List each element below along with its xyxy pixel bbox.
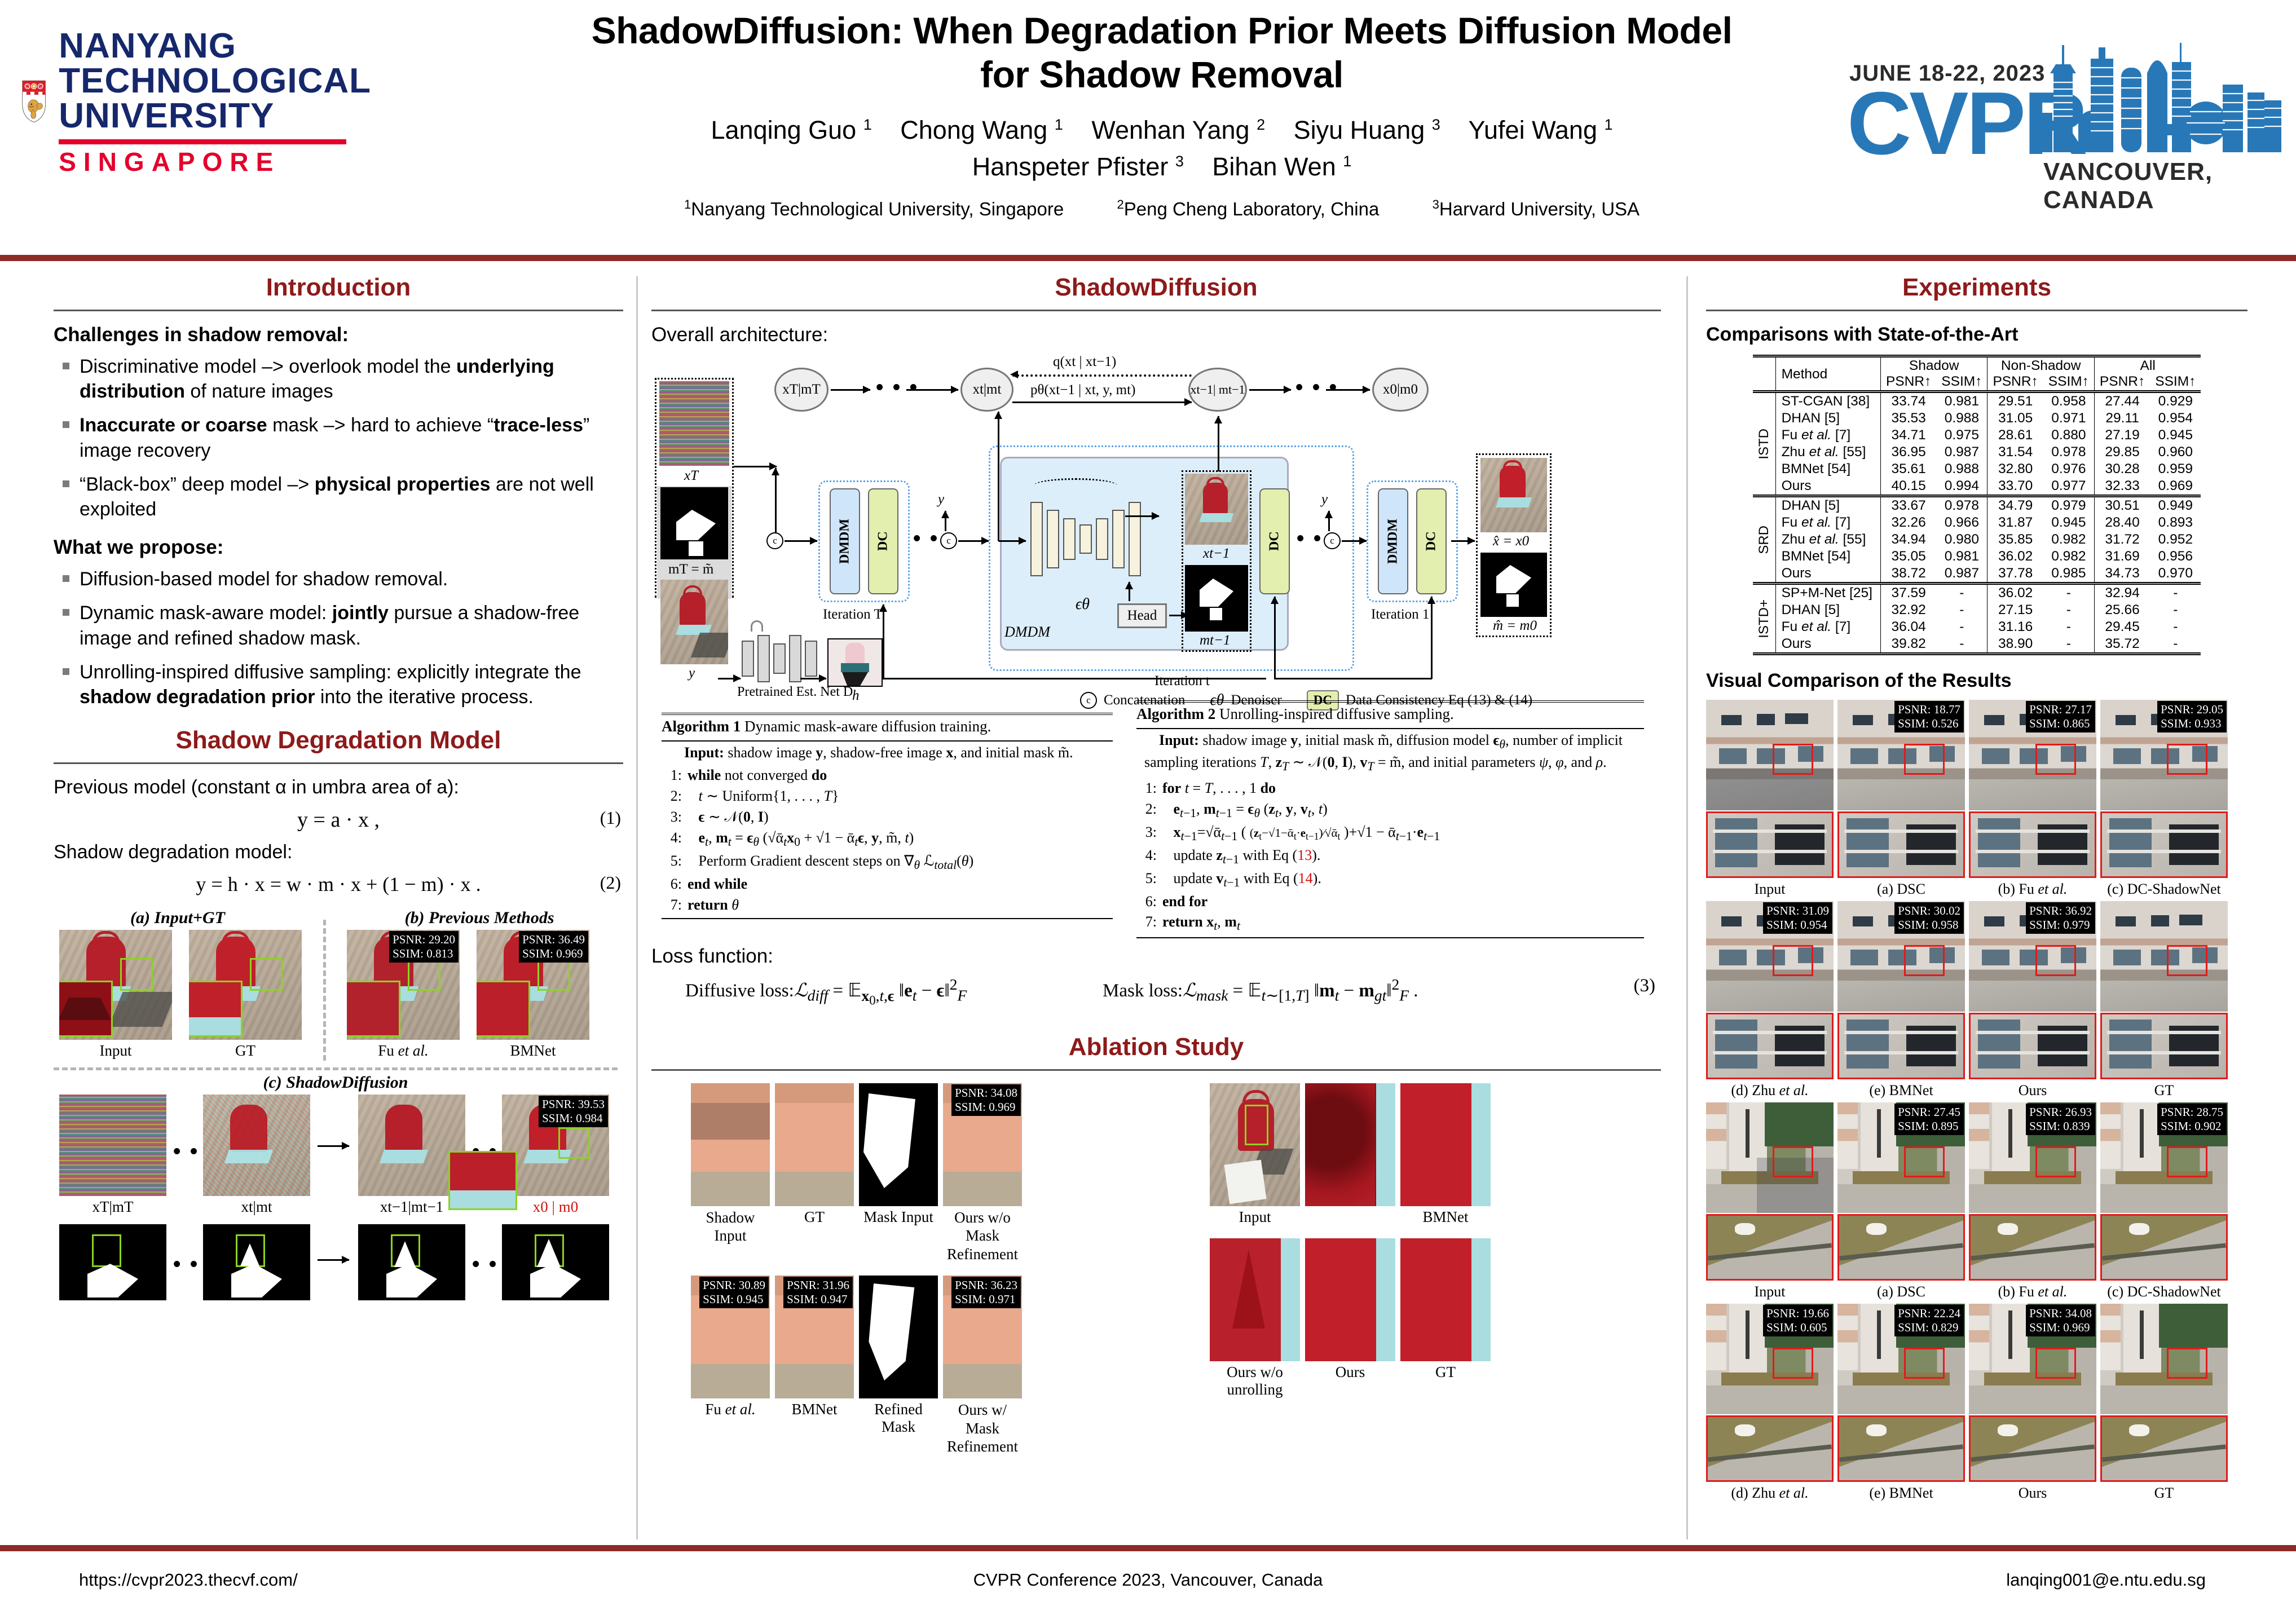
node-xT: xT|mT bbox=[774, 368, 829, 412]
sdm-text: Shadow degradation model: bbox=[54, 841, 623, 863]
cell-method: DHAN [5] bbox=[1775, 410, 1880, 427]
cell-value: - bbox=[1936, 584, 1987, 602]
psnr-value: PSNR: 30.02 bbox=[1898, 904, 1960, 918]
cell-value: 25.66 bbox=[2094, 602, 2150, 619]
header-divider bbox=[0, 255, 2296, 261]
cvpr-logo: JUNE 18-22, 2023 CVPR bbox=[1845, 17, 2285, 192]
author-item: Siyu Huang 3 bbox=[1294, 116, 1440, 144]
algo-line: 3: xt−1=√ᾱt−1 ( (zt−√1−ᾱt·et−1)⁄√ᾱt )+√1… bbox=[1136, 822, 1644, 845]
label-y-input: y bbox=[938, 492, 944, 507]
cell-value: - bbox=[1936, 619, 1987, 636]
architecture-diagram: xT|mT • • • xt|mt xt−1| mt−1 • • • x0|m0… bbox=[651, 346, 1661, 685]
metric-badge: PSNR: 29.05SSIM: 0.933 bbox=[2157, 701, 2227, 732]
cell-value: 30.51 bbox=[2094, 496, 2150, 515]
visual-label: GT bbox=[2100, 1485, 2228, 1502]
ssim-value: SSIM: 0.605 bbox=[1766, 1321, 1829, 1335]
block-dc: DC bbox=[868, 488, 898, 594]
psnr-value: PSNR: 36.92 bbox=[2029, 904, 2092, 918]
cell-method: Fu et al. [7] bbox=[1775, 514, 1880, 531]
algo-line: 6:end for bbox=[1136, 892, 1644, 912]
cell-value: - bbox=[2150, 619, 2201, 636]
algorithm-2: Algorithm 2 Unrolling-inspired diffusive… bbox=[1136, 700, 1644, 938]
cell-value: 34.94 bbox=[1880, 531, 1936, 548]
cell-value: 0.976 bbox=[2043, 461, 2095, 478]
cell-value: - bbox=[2150, 636, 2201, 654]
node-xtm1: xt−1| mt−1 bbox=[1188, 368, 1247, 412]
fig-image-input bbox=[59, 930, 172, 1040]
ablation-image: PSNR: 30.89 SSIM: 0.945 bbox=[691, 1276, 770, 1398]
footer-email[interactable]: lanqing001@e.ntu.edu.sg bbox=[2006, 1570, 2206, 1590]
ablation-label: Ours bbox=[1305, 1363, 1395, 1381]
psnr-value: PSNR: 39.53 bbox=[542, 1097, 605, 1111]
psnr-value: PSNR: 27.45 bbox=[1898, 1105, 1960, 1119]
cell-value: 0.880 bbox=[2043, 427, 2095, 444]
metric-badge: PSNR: 34.08SSIM: 0.969 bbox=[2026, 1305, 2095, 1336]
ablation-image bbox=[859, 1083, 938, 1206]
ntu-crest-icon bbox=[21, 25, 46, 178]
previous-model-text: Previous model (constant α in umbra area… bbox=[54, 776, 623, 798]
cell-value: - bbox=[2043, 584, 2095, 602]
ssim-value: SSIM: 0.895 bbox=[1898, 1119, 1960, 1133]
cell-value: 0.956 bbox=[2150, 548, 2201, 565]
image-xT bbox=[659, 381, 729, 466]
section-title-ablation: Ablation Study bbox=[651, 1033, 1661, 1061]
ellipsis: • • • bbox=[876, 381, 919, 394]
visual-cell: PSNR: 27.17SSIM: 0.865(b) Fu et al. bbox=[1969, 700, 2096, 898]
metric-badge: PSNR: 18.77SSIM: 0.526 bbox=[1894, 701, 1964, 732]
section-title-introduction: Introduction bbox=[54, 273, 623, 302]
visual-cell: PSNR: 22.24SSIM: 0.829(e) BMNet bbox=[1837, 1304, 1965, 1502]
visual-label: (e) BMNet bbox=[1837, 1485, 1965, 1502]
cell-value: - bbox=[2043, 619, 2095, 636]
ablation-label: BMNet bbox=[775, 1401, 854, 1418]
cell-value: 28.40 bbox=[2094, 514, 2150, 531]
algo-line: 7:return xt, mt bbox=[1136, 912, 1644, 935]
image-mt1 bbox=[1185, 565, 1248, 632]
propose-list: Diffusion-based model for shadow removal… bbox=[59, 567, 623, 709]
algorithms-row: Algorithm 1 Dynamic mask-aware diffusion… bbox=[651, 700, 1661, 943]
visual-label: Ours bbox=[1969, 1082, 2096, 1099]
psnr-value: PSNR: 26.93 bbox=[2029, 1105, 2092, 1119]
visual-image bbox=[2100, 901, 2228, 1012]
cell-value: 0.960 bbox=[2150, 444, 2201, 461]
visual-cell: PSNR: 26.93SSIM: 0.839(b) Fu et al. bbox=[1969, 1102, 2096, 1300]
cell-value: - bbox=[1936, 602, 1987, 619]
label-pretrained-net: Pretrained Est. Net D bbox=[737, 685, 853, 700]
metric-badge: PSNR: 36.23 SSIM: 0.971 bbox=[951, 1277, 1021, 1308]
table-row: ISTDST-CGAN [38]33.740.98129.510.95827.4… bbox=[1753, 392, 2201, 411]
visual-zoom-image bbox=[1837, 811, 1965, 878]
visual-zoom-image bbox=[1837, 1013, 1965, 1079]
label-denoiser: ϵθ bbox=[1076, 595, 1090, 614]
visual-label: (b) Fu et al. bbox=[1969, 1283, 2096, 1300]
ssim-value: SSIM: 0.954 bbox=[1766, 918, 1829, 932]
fig-caption-b: (b) Previous Methods bbox=[347, 908, 612, 928]
ablation-label: Ours w/o Mask Refinement bbox=[943, 1208, 1022, 1263]
cell-value: 36.95 bbox=[1880, 444, 1936, 461]
label-p: pθ(xt−1 | xt, y, mt) bbox=[1030, 382, 1135, 398]
visual-zoom-image bbox=[1969, 1415, 2096, 1482]
label-q: q(xt | xt−1) bbox=[1053, 354, 1116, 370]
algo-line: 5: Perform Gradient descent steps on ∇θ … bbox=[662, 851, 1113, 874]
visual-zoom-image bbox=[1706, 1013, 1834, 1079]
visual-zoom-image bbox=[1969, 1214, 2096, 1281]
challenges-list: Discriminative model –> overlook model t… bbox=[59, 354, 623, 522]
cell-value: 31.69 bbox=[2094, 548, 2150, 565]
ablation-image bbox=[1400, 1238, 1491, 1361]
label-mhat: m̂ = m0 bbox=[1493, 618, 1537, 634]
cell-method: DHAN [5] bbox=[1775, 602, 1880, 619]
visual-comparison-grid: InputPSNR: 18.77SSIM: 0.526(a) DSCPSNR: … bbox=[1706, 700, 2247, 1502]
ablation-label bbox=[1305, 1208, 1395, 1226]
psnr-value: PSNR: 18.77 bbox=[1898, 703, 1960, 717]
cell-value: 0.966 bbox=[1936, 514, 1987, 531]
ssim-value: SSIM: 0.969 bbox=[522, 947, 585, 961]
author-item: Bihan Wen 1 bbox=[1212, 152, 1351, 181]
cell-value: 0.994 bbox=[1936, 478, 1987, 496]
visual-cell: GT bbox=[2100, 901, 2228, 1099]
psnr-value: PSNR: 31.96 bbox=[787, 1278, 849, 1292]
ssim-value: SSIM: 0.984 bbox=[542, 1111, 605, 1126]
ntu-wordmark: NANYANG TECHNOLOGICAL UNIVERSITY SINGAPO… bbox=[59, 29, 371, 175]
th-col: SSIM↑ bbox=[2150, 374, 2201, 392]
visual-cell: Input bbox=[1706, 1102, 1834, 1300]
author-item: Lanqing Guo 1 bbox=[711, 116, 871, 144]
cell-value: - bbox=[2043, 636, 2095, 654]
visual-title: Visual Comparison of the Results bbox=[1706, 670, 2247, 692]
cell-value: - bbox=[2150, 602, 2201, 619]
cell-value: 29.85 bbox=[2094, 444, 2150, 461]
th-col: PSNR↑ bbox=[1880, 374, 1936, 392]
list-item: “Black-box” deep model –> physical prope… bbox=[59, 472, 623, 522]
visual-image: PSNR: 27.17SSIM: 0.865 bbox=[1969, 700, 2096, 810]
visual-zoom-image bbox=[1969, 811, 2096, 878]
equation-1-number: (1) bbox=[600, 807, 621, 828]
algo-line: 5: update vt−1 with Eq (14). bbox=[1136, 868, 1644, 892]
affiliation-item: 1Nanyang Technological University, Singa… bbox=[684, 198, 1064, 219]
cell-value: 0.952 bbox=[2150, 531, 2201, 548]
table-row: Ours38.720.98737.780.98534.730.970 bbox=[1753, 565, 2201, 584]
ntu-line4: SINGAPORE bbox=[59, 149, 371, 175]
algorithm-1-input: Input: shadow image y, shadow-free image… bbox=[662, 742, 1113, 763]
table-header-group-row: MethodShadowNon-ShadowAll bbox=[1753, 356, 2201, 374]
ssim-value: SSIM: 0.829 bbox=[1898, 1321, 1960, 1335]
visual-cell: PSNR: 19.66SSIM: 0.605(d) Zhu et al. bbox=[1706, 1304, 1834, 1502]
table-row: BMNet [54]35.050.98136.020.98231.690.956 bbox=[1753, 548, 2201, 565]
ablation-image bbox=[775, 1083, 854, 1206]
cell-value: 0.949 bbox=[2150, 496, 2201, 515]
visual-label: (c) DC-ShadowNet bbox=[2100, 1283, 2228, 1300]
visual-cell: PSNR: 28.75SSIM: 0.902(c) DC-ShadowNet bbox=[2100, 1102, 2228, 1300]
ablation-label: BMNet bbox=[1400, 1208, 1491, 1226]
ablation-label: Input bbox=[1210, 1208, 1300, 1226]
visual-image: PSNR: 22.24SSIM: 0.829 bbox=[1837, 1304, 1965, 1414]
visual-image bbox=[1706, 700, 1834, 810]
ablation-image bbox=[859, 1276, 938, 1398]
cell-value: 33.70 bbox=[1987, 478, 2043, 496]
cell-value: 0.982 bbox=[2043, 531, 2095, 548]
author-item: Hanspeter Pfister 3 bbox=[972, 152, 1184, 181]
cell-method: BMNet [54] bbox=[1775, 461, 1880, 478]
metric-badge: PSNR: 29.20 SSIM: 0.813 bbox=[389, 931, 459, 963]
table-row: Ours40.150.99433.700.97732.330.969 bbox=[1753, 478, 2201, 496]
visual-image bbox=[1706, 1102, 1834, 1213]
cell-value: 0.987 bbox=[1936, 444, 1987, 461]
ssim-value: SSIM: 0.902 bbox=[2161, 1119, 2223, 1133]
visual-zoom-image bbox=[2100, 1214, 2228, 1281]
image-h bbox=[827, 638, 883, 687]
cell-method: Fu et al. [7] bbox=[1775, 619, 1880, 636]
cell-value: 35.05 bbox=[1880, 548, 1936, 565]
concat-icon: c bbox=[766, 532, 783, 549]
psnr-value: PSNR: 29.05 bbox=[2161, 703, 2223, 717]
vancouver-skyline-icon bbox=[2037, 34, 2285, 164]
cell-value: 29.45 bbox=[2094, 619, 2150, 636]
cell-value: 38.72 bbox=[1880, 565, 1936, 584]
ntu-line2: TECHNOLOGICAL bbox=[59, 64, 371, 99]
ssim-value: SSIM: 0.947 bbox=[787, 1292, 849, 1307]
equation-2-body: y = h · x = w · m · x + (1 − m) · x . bbox=[196, 873, 481, 895]
visual-cell: PSNR: 30.02SSIM: 0.958(e) BMNet bbox=[1837, 901, 1965, 1099]
th-col: PSNR↑ bbox=[2094, 374, 2150, 392]
block-dc-2: DC bbox=[1259, 488, 1290, 594]
qualitative-figure: (a) Input+GT (b) Previous Methods Input bbox=[54, 908, 623, 1303]
visual-cell: PSNR: 29.05SSIM: 0.933(c) DC-ShadowNet bbox=[2100, 700, 2228, 898]
cell-value: 0.954 bbox=[2150, 410, 2201, 427]
author-item: Chong Wang 1 bbox=[900, 116, 1063, 144]
cell-value: 34.73 bbox=[2094, 565, 2150, 584]
dataset-group-label: ISTD bbox=[1754, 429, 1774, 460]
psnr-value: PSNR: 30.89 bbox=[703, 1278, 765, 1292]
ablation-image bbox=[1210, 1083, 1300, 1206]
cell-value: 36.04 bbox=[1880, 619, 1936, 636]
affiliation-list: 1Nanyang Technological University, Singa… bbox=[485, 197, 1839, 220]
algo-line: 1:while not converged do bbox=[662, 765, 1113, 786]
algo-line: 3: ϵ ∼ 𝒩(0, I) bbox=[662, 807, 1113, 828]
ablation-right-row-1: Input B bbox=[1210, 1083, 1491, 1226]
cell-value: 0.975 bbox=[1936, 427, 1987, 444]
cell-value: 36.02 bbox=[1987, 548, 2043, 565]
cell-value: 35.61 bbox=[1880, 461, 1936, 478]
cell-value: 31.05 bbox=[1987, 410, 2043, 427]
section-rule bbox=[54, 310, 623, 311]
visual-image: PSNR: 30.02SSIM: 0.958 bbox=[1837, 901, 1965, 1012]
cell-value: 0.979 bbox=[2043, 496, 2095, 515]
cell-value: 35.72 bbox=[2094, 636, 2150, 654]
cell-value: 0.988 bbox=[1936, 461, 1987, 478]
label-y-input-2: y bbox=[1321, 492, 1328, 507]
section-title-shadowdiffusion: ShadowDiffusion bbox=[651, 273, 1661, 302]
cell-value: 33.67 bbox=[1880, 496, 1936, 515]
ablation-label: GT bbox=[775, 1208, 854, 1226]
ablation-image: PSNR: 36.23 SSIM: 0.971 bbox=[943, 1276, 1022, 1398]
table-row: SRDDHAN [5]33.670.97834.790.97930.510.94… bbox=[1753, 496, 2201, 515]
block-dc-3: DC bbox=[1416, 488, 1447, 594]
loss-mask: Mask loss:ℒmask = 𝔼t∼[1,T] ‖mt − mgt‖2F … bbox=[1103, 976, 1418, 1005]
ssim-value: SSIM: 0.969 bbox=[955, 1100, 1017, 1114]
algo-line: 4: update zt−1 with Eq (13). bbox=[1136, 845, 1644, 868]
table-row: ISTD+SP+M-Net [25]37.59-36.02-32.94- bbox=[1753, 584, 2201, 602]
th-col: PSNR↑ bbox=[1987, 374, 2043, 392]
cell-value: 39.82 bbox=[1880, 636, 1936, 654]
table-row: Ours39.82-38.90-35.72- bbox=[1753, 636, 2201, 654]
algo-line: 2: et−1, mt−1 = ϵθ (zt, y, vt, t) bbox=[1136, 799, 1644, 822]
challenges-lead: Challenges in shadow removal: bbox=[54, 324, 623, 346]
ablation-image bbox=[1400, 1083, 1491, 1206]
cell-value: 31.72 bbox=[2094, 531, 2150, 548]
fig-mask-t bbox=[203, 1224, 310, 1300]
label-mt1: mt−1 bbox=[1200, 633, 1230, 648]
visual-zoom-image bbox=[2100, 811, 2228, 878]
title-block: ShadowDiffusion: When Degradation Prior … bbox=[485, 9, 1839, 220]
cell-value: 28.61 bbox=[1987, 427, 2043, 444]
cell-value: 0.988 bbox=[1936, 410, 1987, 427]
column-right: Experiments Comparisons with State-of-th… bbox=[1706, 273, 2247, 1505]
ssim-value: SSIM: 0.971 bbox=[955, 1292, 1017, 1307]
ssim-value: SSIM: 0.933 bbox=[2161, 717, 2223, 731]
cell-value: 0.982 bbox=[2043, 548, 2095, 565]
cell-value: 0.977 bbox=[2043, 478, 2095, 496]
label-xT: xT bbox=[684, 468, 698, 484]
th-col: SSIM↑ bbox=[2043, 374, 2095, 392]
cell-value: 27.19 bbox=[2094, 427, 2150, 444]
node-xt: xt|mt bbox=[960, 368, 1013, 412]
ablation-label: Ours w/ Mask Refinement bbox=[943, 1401, 1022, 1455]
visual-row: InputPSNR: 18.77SSIM: 0.526(a) DSCPSNR: … bbox=[1706, 700, 2247, 898]
th-group: Non-Shadow bbox=[1987, 356, 2094, 374]
node-x0: x0|m0 bbox=[1372, 368, 1429, 412]
cell-value: 31.54 bbox=[1987, 444, 2043, 461]
author-row-1: Lanqing Guo 1 Chong Wang 1 Wenhan Yang 2… bbox=[485, 112, 1839, 148]
visual-image: PSNR: 36.92SSIM: 0.979 bbox=[1969, 901, 2096, 1012]
section-rule bbox=[1706, 310, 2247, 311]
visual-image: PSNR: 29.05SSIM: 0.933 bbox=[2100, 700, 2228, 810]
table-row: DHAN [5]32.92-27.15-25.66- bbox=[1753, 602, 2201, 619]
section-title-experiments: Experiments bbox=[1706, 273, 2247, 302]
ablation-image bbox=[1210, 1238, 1300, 1361]
ablation-label: Refined Mask bbox=[859, 1401, 938, 1436]
section-title-sdm: Shadow Degradation Model bbox=[54, 726, 623, 754]
psnr-value: PSNR: 36.23 bbox=[955, 1278, 1017, 1292]
visual-image: PSNR: 19.66SSIM: 0.605 bbox=[1706, 1304, 1834, 1414]
block-dmdm: DMDM bbox=[830, 488, 860, 594]
list-item: Dynamic mask-aware model: jointly pursue… bbox=[59, 601, 623, 650]
psnr-value: PSNR: 27.17 bbox=[2029, 703, 2092, 717]
metric-badge: PSNR: 30.02SSIM: 0.958 bbox=[1894, 902, 1964, 934]
metric-badge: PSNR: 36.49 SSIM: 0.969 bbox=[519, 931, 588, 963]
equation-1: y = a · x , (1) bbox=[54, 807, 623, 832]
visual-label: GT bbox=[2100, 1082, 2228, 1099]
loss-diffusive: Diffusive loss:ℒdiff = 𝔼x0,t,ϵ ‖et − ϵ‖2… bbox=[685, 976, 967, 1008]
visual-image bbox=[2100, 1304, 2228, 1414]
visual-label: (d) Zhu et al. bbox=[1706, 1082, 1834, 1099]
visual-row: InputPSNR: 27.45SSIM: 0.895(a) DSCPSNR: … bbox=[1706, 1102, 2247, 1300]
cell-value: 38.90 bbox=[1987, 636, 2043, 654]
visual-label: (d) Zhu et al. bbox=[1706, 1485, 1834, 1502]
visual-label: Input bbox=[1706, 1283, 1834, 1300]
psnr-value: PSNR: 28.75 bbox=[2161, 1105, 2223, 1119]
cell-value: 0.981 bbox=[1936, 548, 1987, 565]
fig-label: Fu et al. bbox=[347, 1042, 460, 1060]
psnr-value: PSNR: 22.24 bbox=[1898, 1307, 1960, 1321]
cell-method: BMNet [54] bbox=[1775, 548, 1880, 565]
fig-label: GT bbox=[189, 1042, 302, 1060]
dataset-group-label: ISTD+ bbox=[1754, 599, 1774, 638]
cell-value: 32.26 bbox=[1880, 514, 1936, 531]
cell-value: 0.971 bbox=[2043, 410, 2095, 427]
metric-badge: PSNR: 31.96 SSIM: 0.947 bbox=[783, 1277, 853, 1308]
ssim-value: SSIM: 0.979 bbox=[2029, 918, 2092, 932]
comparison-table: MethodShadowNon-ShadowAllPSNR↑SSIM↑PSNR↑… bbox=[1753, 355, 2201, 655]
section-rule bbox=[54, 762, 623, 764]
visual-cell: GT bbox=[2100, 1304, 2228, 1502]
ntu-logo: NANYANG TECHNOLOGICAL UNIVERSITY SINGAPO… bbox=[21, 17, 371, 186]
metric-badge: PSNR: 39.53 SSIM: 0.984 bbox=[539, 1096, 608, 1127]
visual-zoom-image bbox=[1706, 1415, 1834, 1482]
cell-value: 32.92 bbox=[1880, 602, 1936, 619]
visual-zoom-image bbox=[2100, 1013, 2228, 1079]
table-row: Zhu et al. [55]36.950.98731.540.97829.85… bbox=[1753, 444, 2201, 461]
image-xhat bbox=[1480, 458, 1547, 532]
visual-zoom-image bbox=[2100, 1415, 2228, 1482]
block-head: Head bbox=[1117, 603, 1167, 628]
block-dmdm-2: DMDM bbox=[1378, 488, 1408, 594]
metric-badge: PSNR: 28.75SSIM: 0.902 bbox=[2157, 1104, 2227, 1135]
cell-value: 36.02 bbox=[1987, 584, 2043, 602]
psnr-value: PSNR: 19.66 bbox=[1766, 1307, 1829, 1321]
algo-line: 1:for t = T, . . . , 1 do bbox=[1136, 778, 1644, 799]
visual-label: Ours bbox=[1969, 1485, 2096, 1502]
cell-value: 37.78 bbox=[1987, 565, 2043, 584]
ablation-label: Fu et al. bbox=[691, 1401, 770, 1418]
visual-image: PSNR: 18.77SSIM: 0.526 bbox=[1837, 700, 1965, 810]
visual-label: (e) BMNet bbox=[1837, 1082, 1965, 1099]
th-method: Method bbox=[1775, 356, 1880, 392]
ablation-label: Mask Input bbox=[859, 1208, 938, 1226]
algo-line: 4: et, mt = ϵθ (√ᾱtx0 + √1 − ᾱtϵ, y, m̃,… bbox=[662, 828, 1113, 851]
visual-cell: PSNR: 18.77SSIM: 0.526(a) DSC bbox=[1837, 700, 1965, 898]
visual-image: PSNR: 26.93SSIM: 0.839 bbox=[1969, 1102, 2096, 1213]
fig-mask-T bbox=[59, 1224, 166, 1300]
th-group: All bbox=[2094, 356, 2201, 374]
concat-icon: c bbox=[940, 532, 957, 549]
cell-value: 0.981 bbox=[1936, 392, 1987, 411]
cell-value: 0.959 bbox=[2150, 461, 2201, 478]
fig-label: xt|mt bbox=[203, 1198, 310, 1216]
affiliation-item: 3Harvard University, USA bbox=[1433, 198, 1640, 219]
fig-image-x0: PSNR: 39.53 SSIM: 0.984 bbox=[502, 1095, 609, 1196]
metric-badge: PSNR: 22.24SSIM: 0.829 bbox=[1894, 1305, 1964, 1336]
cell-method: Ours bbox=[1775, 636, 1880, 654]
cell-value: 34.71 bbox=[1880, 427, 1936, 444]
visual-zoom-image bbox=[1969, 1013, 2096, 1079]
ssim-value: SSIM: 0.813 bbox=[393, 947, 455, 961]
visual-label: (b) Fu et al. bbox=[1969, 881, 2096, 898]
list-item: Unrolling-inspired diffusive sampling: e… bbox=[59, 660, 623, 709]
label-iteration-t: Iteration t bbox=[1154, 673, 1210, 689]
metric-badge: PSNR: 19.66SSIM: 0.605 bbox=[1763, 1305, 1832, 1336]
equation-2-number: (2) bbox=[600, 872, 621, 893]
cvpr-city: VANCOUVER, CANADA bbox=[2043, 158, 2285, 214]
cell-value: 0.978 bbox=[2043, 444, 2095, 461]
ssim-value: SSIM: 0.958 bbox=[1898, 918, 1960, 932]
propose-lead: What we propose: bbox=[54, 536, 623, 559]
poster-header: NANYANG TECHNOLOGICAL UNIVERSITY SINGAPO… bbox=[0, 0, 2296, 254]
th-col: SSIM↑ bbox=[1936, 374, 1987, 392]
table-row: BMNet [54]35.610.98832.800.97630.280.959 bbox=[1753, 461, 2201, 478]
label-dmdm-tag: DMDM bbox=[1004, 624, 1050, 641]
cell-value: 29.11 bbox=[2094, 410, 2150, 427]
